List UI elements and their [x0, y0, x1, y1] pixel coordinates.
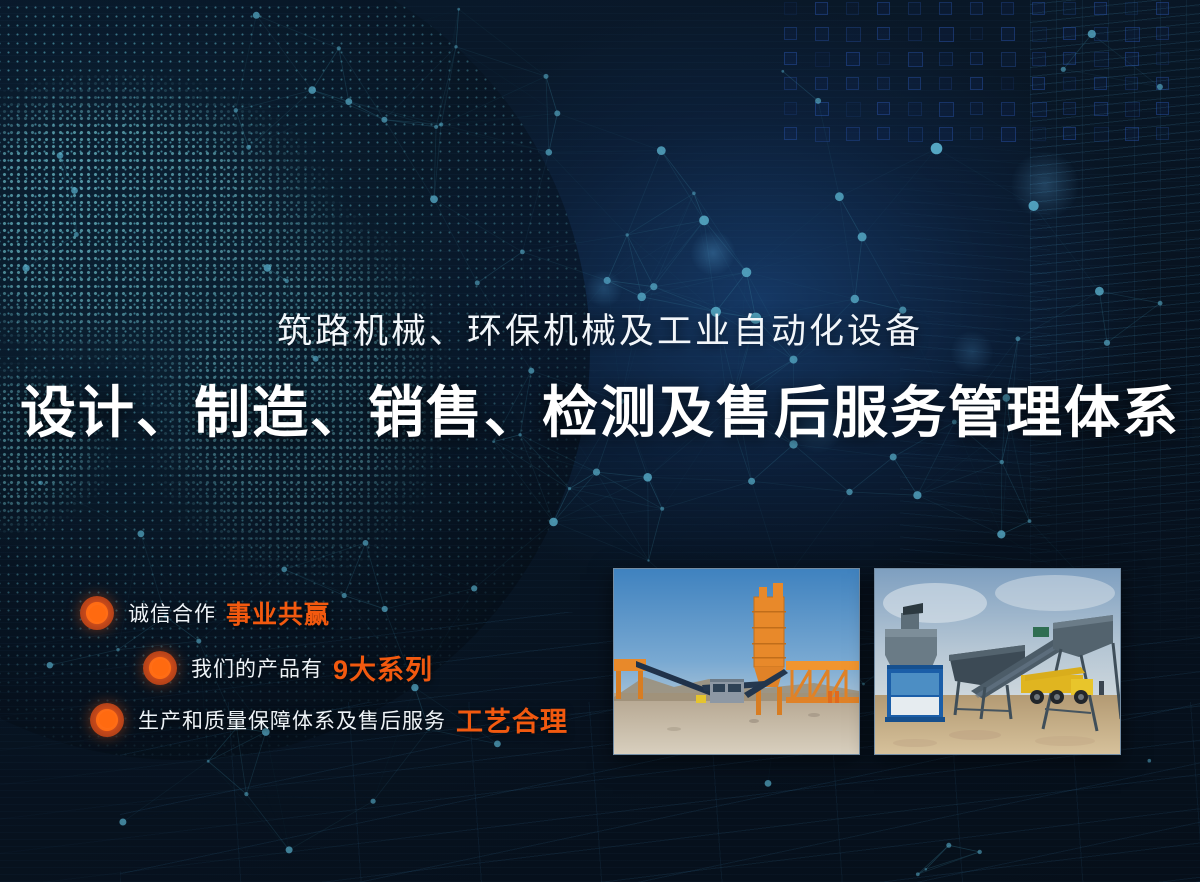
banner-subtitle: 筑路机械、环保机械及工业自动化设备 [0, 303, 1200, 354]
feature-bullet-list: 诚信合作 事业共赢 我们的产品有 9大系列 生产和质量保障体系及售后服务 工艺合… [0, 590, 600, 760]
bullet-label: 我们的产品有 [191, 653, 323, 683]
bullet-dot-icon [90, 703, 124, 737]
list-item: 生产和质量保障体系及售后服务 工艺合理 [90, 700, 568, 739]
bullet-highlight: 事业共赢 [226, 595, 330, 631]
mobile-batching-plant-photo [874, 568, 1121, 755]
concrete-batching-plant-photo [613, 568, 860, 755]
bullet-highlight: 工艺合理 [456, 700, 568, 739]
bullet-label: 诚信合作 [128, 598, 216, 628]
bullet-highlight: 9大系列 [333, 648, 433, 687]
list-item: 诚信合作 事业共赢 [80, 595, 330, 631]
photo-gallery [613, 568, 1121, 755]
list-item: 我们的产品有 9大系列 [143, 648, 433, 687]
bullet-dot-icon [80, 596, 114, 630]
banner-headline: 设计、制造、销售、检测及售后服务管理体系 [0, 368, 1200, 449]
bullet-dot-icon [143, 651, 177, 685]
hero-banner: 筑路机械、环保机械及工业自动化设备 设计、制造、销售、检测及售后服务管理体系 诚… [0, 0, 1200, 882]
bullet-label: 生产和质量保障体系及售后服务 [138, 705, 446, 735]
